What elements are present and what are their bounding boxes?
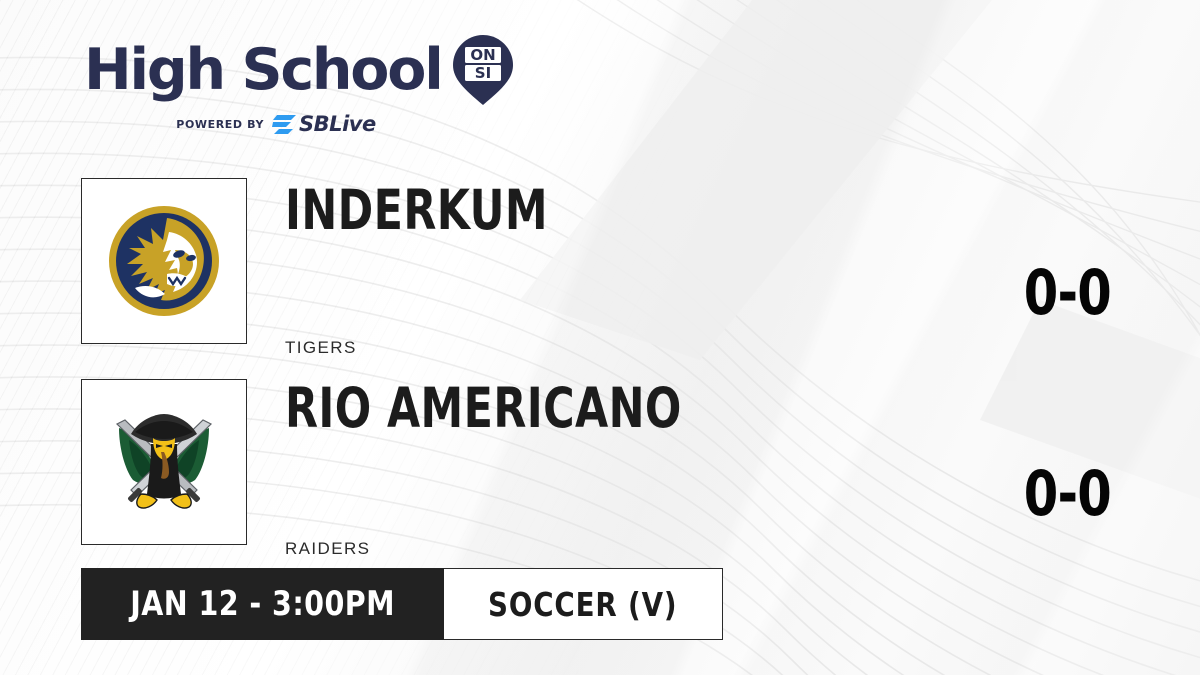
game-sport-chip: SOCCER (V): [444, 568, 722, 640]
powered-by-row: POWERED BY SBLive: [76, 113, 476, 135]
team-mascot-away: RAIDERS: [285, 539, 370, 559]
tiger-head-logo-icon: [105, 202, 223, 320]
team-score-away: 0-0: [1024, 463, 1111, 525]
pin-label-on: ON: [470, 46, 495, 64]
on-si-pin-icon: ON SI: [452, 34, 514, 106]
sblive-logo: SBLive: [271, 113, 376, 135]
sblive-word-upper: SBL: [299, 112, 342, 136]
brand-title: High School: [84, 42, 442, 99]
powered-by-label: POWERED BY: [176, 118, 264, 131]
sblive-word-lower: ive: [342, 112, 376, 136]
pin-label-si: SI: [474, 64, 490, 82]
team-name-home: INDERKUM: [285, 183, 548, 238]
game-datetime-chip: JAN 12 - 3:00PM: [81, 568, 444, 640]
scoreboard-graphic: High School ON SI POWERED BY SBL: [0, 0, 1200, 675]
brand-header: High School ON SI POWERED BY SBL: [84, 34, 514, 135]
team-score-home: 0-0: [1024, 262, 1111, 324]
game-sport-label: SOCCER (V): [488, 588, 677, 621]
team-logo-box-away: [81, 379, 247, 545]
sblive-wordmark: SBLive: [299, 114, 376, 135]
game-info-bar: JAN 12 - 3:00PM SOCCER (V): [81, 568, 723, 640]
team-logo-box-home: [81, 178, 247, 344]
sblive-arrow-icon: [271, 113, 297, 135]
raider-pirate-logo-icon: [105, 408, 223, 516]
team-name-away: RIO AMERICANO: [285, 381, 682, 436]
team-mascot-home: TIGERS: [285, 338, 357, 358]
game-datetime-label: JAN 12 - 3:00PM: [130, 587, 395, 621]
brand-logo-row: High School ON SI: [84, 34, 514, 106]
